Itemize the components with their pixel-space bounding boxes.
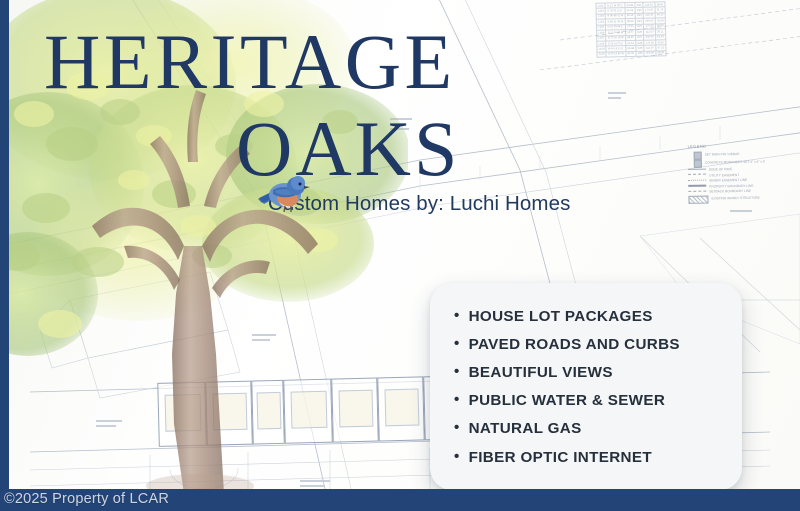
feature-label: HOUSE LOT PACKAGES — [469, 309, 653, 324]
feature-item: •FIBER OPTIC INTERNET — [454, 443, 722, 471]
feature-item: •NATURAL GAS — [454, 415, 722, 443]
plat-legend: LEGEND SET IRON PIN / REBARCONCRETE MONU… — [687, 141, 792, 204]
left-border-band — [0, 0, 9, 511]
table-cell: L110 — [597, 52, 606, 58]
table-cell: S 69 12 40 W — [606, 51, 626, 57]
survey-table-body: L101N 12 14 30 E44.68C21112.5028.40L102S… — [596, 2, 666, 58]
legend-swatch-icon — [694, 160, 702, 168]
legend-swatch-icon — [688, 191, 706, 195]
plat-lot — [331, 378, 379, 443]
legend-swatch-icon — [694, 152, 702, 160]
legend-swatch-icon — [688, 180, 706, 184]
legend-swatch-icon — [688, 196, 708, 204]
bullet-icon: • — [454, 336, 460, 351]
feature-item: •PAVED ROADS AND CURBS — [454, 330, 722, 358]
table-row: L110S 69 12 40 W41.05C30250.0058.30 — [597, 51, 666, 58]
legend-title: LEGEND — [687, 141, 791, 150]
plat-lot — [251, 380, 285, 445]
feature-label: NATURAL GAS — [469, 421, 582, 436]
legend-label: SET IRON PIN / REBAR — [705, 152, 740, 158]
plat-lot — [283, 379, 333, 444]
bullet-icon: • — [454, 449, 460, 464]
table-cell: 250.00 — [644, 51, 656, 57]
plat-lot — [377, 376, 425, 441]
feature-item: •HOUSE LOT PACKAGES — [454, 302, 722, 330]
plat-lot — [157, 382, 207, 447]
feature-label: PUBLIC WATER & SEWER — [469, 393, 666, 408]
feature-label: FIBER OPTIC INTERNET — [469, 450, 652, 465]
legend-label: EXISTING WOOD / STRUCTURE — [711, 196, 759, 202]
legend-swatch-icon — [688, 168, 706, 172]
legend-rows: SET IRON PIN / REBARCONCRETE MONUMENT SE… — [688, 150, 793, 204]
legend-swatch-icon — [688, 174, 706, 178]
legend-label: CONCRETE MONUMENT SET 4" x 4" x 3' — [705, 160, 765, 167]
bullet-icon: • — [454, 392, 460, 407]
legend-swatch-icon — [688, 185, 706, 190]
bullet-icon: • — [454, 420, 460, 435]
copyright-watermark: ©2025 Property of LCAR — [4, 491, 169, 507]
table-cell: C30 — [636, 51, 644, 57]
survey-data-table: L101N 12 14 30 E44.68C21112.5028.40L102S… — [595, 1, 666, 58]
listing-flyer: .pl { fill:none; stroke:#9aa6b8; stroke-… — [0, 0, 800, 511]
bullet-icon: • — [454, 308, 460, 323]
table-cell: 41.05 — [626, 51, 636, 57]
feature-item: •BEAUTIFUL VIEWS — [454, 358, 722, 386]
features-list: •HOUSE LOT PACKAGES•PAVED ROADS AND CURB… — [454, 302, 722, 471]
feature-item: •PUBLIC WATER & SEWER — [454, 387, 722, 415]
features-panel: •HOUSE LOT PACKAGES•PAVED ROADS AND CURB… — [430, 283, 742, 490]
survey-table: L101N 12 14 30 E44.68C21112.5028.40L102S… — [595, 1, 666, 58]
plat-lot — [205, 381, 253, 446]
feature-label: PAVED ROADS AND CURBS — [469, 337, 680, 352]
bullet-icon: • — [454, 364, 460, 379]
table-cell: 58.30 — [656, 51, 666, 57]
feature-label: BEAUTIFUL VIEWS — [469, 365, 613, 380]
legend-label: SETBACK BOUNDARY LINE — [709, 189, 751, 195]
